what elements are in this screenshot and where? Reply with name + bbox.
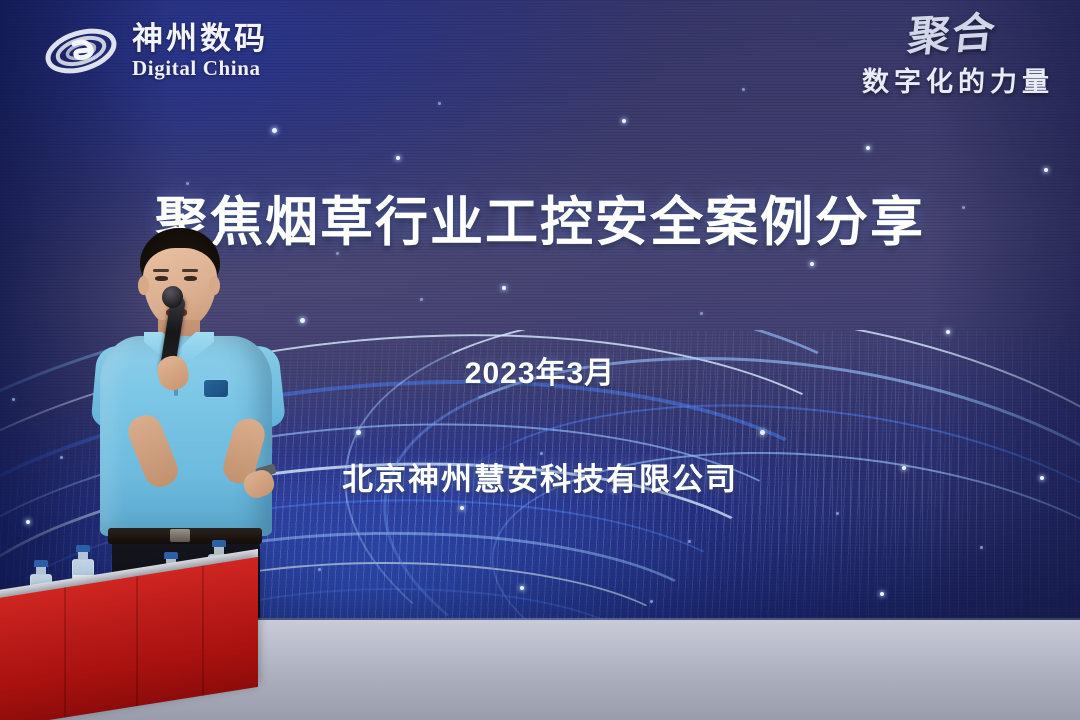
event-calligraphy: 聚合 [859, 13, 998, 62]
company-badge-icon [204, 380, 228, 397]
speaker-ear-left [138, 276, 149, 295]
speaker-ear-right [209, 276, 220, 295]
speaker-eye-right [184, 276, 197, 281]
digital-china-swirl-icon [44, 18, 118, 84]
digital-china-logo: 神州数码 Digital China [44, 18, 268, 84]
speaker-belt-buckle [170, 529, 190, 542]
stage-photo: 神州数码 Digital China 聚合 数字化的力量 聚焦烟草行业工控安全案… [0, 0, 1080, 720]
speaker-eye-left [155, 276, 168, 281]
brand-name-cn: 神州数码 [132, 23, 268, 54]
event-tagline: 数字化的力量 [862, 60, 1054, 99]
speaker-brow-left [153, 269, 169, 272]
brand-name-en: Digital China [132, 58, 268, 79]
speaker-brow-right [182, 269, 198, 272]
event-branding: 聚合 数字化的力量 [862, 16, 1054, 99]
